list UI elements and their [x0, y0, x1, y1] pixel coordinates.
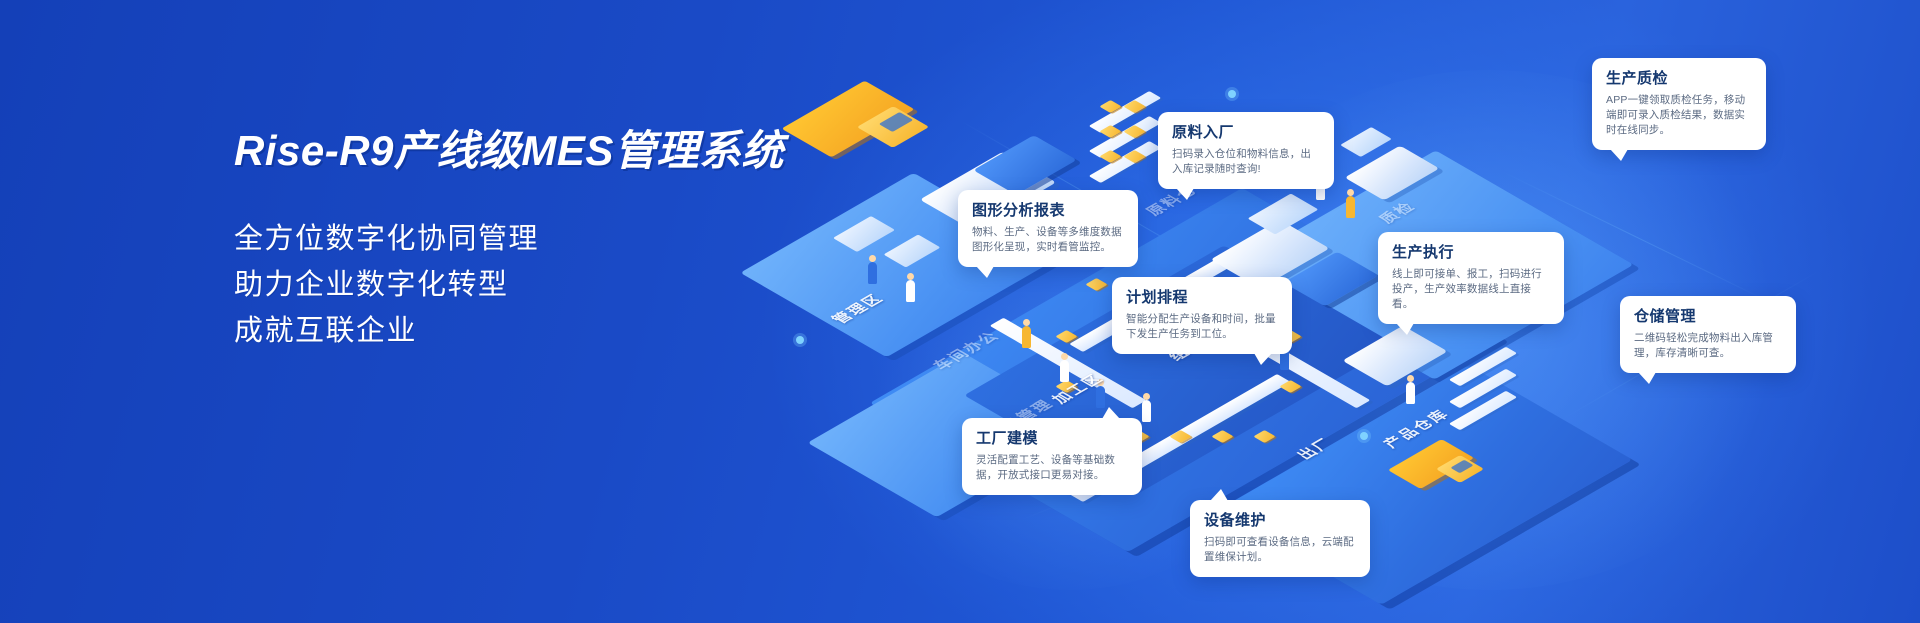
callout-card-raw-material-inbound[interactable]: 原料入厂 扫码录入仓位和物料信息，出入库记录随时查询!: [1158, 112, 1334, 189]
callout-title: 图形分析报表: [972, 201, 1124, 221]
callout-description: 智能分配生产设备和时间，批量下发生产任务到工位。: [1126, 312, 1278, 342]
callout-description: 线上即可接单、报工，扫码进行投产，生产效率数据线上直接看。: [1392, 267, 1550, 312]
callout-card-plan-scheduling[interactable]: 计划排程 智能分配生产设备和时间，批量下发生产任务到工位。: [1112, 277, 1292, 354]
worker: [868, 262, 877, 284]
hero-banner: Rise-R9产线级MES管理系统 全方位数字化协同管理 助力企业数字化转型 成…: [0, 0, 1920, 623]
callout-description: APP一键领取质检任务，移动端即可录入质检结果，数据实时在线同步。: [1606, 93, 1752, 138]
leader-dot: [1228, 90, 1236, 98]
callout-title: 工厂建模: [976, 429, 1128, 449]
callout-tail: [1396, 323, 1414, 335]
callout-title: 生产质检: [1606, 69, 1752, 89]
product-title: 产线级MES管理系统: [394, 127, 784, 174]
callout-title: 仓储管理: [1634, 307, 1782, 327]
callout-card-graphic-analysis-report[interactable]: 图形分析报表 物料、生产、设备等多维度数据图形化呈现，实时看管监控。: [958, 190, 1138, 267]
callout-title: 设备维护: [1204, 511, 1356, 531]
worker: [906, 280, 915, 302]
callout-card-factory-modeling[interactable]: 工厂建模 灵活配置工艺、设备等基础数据，开放式接口更易对接。: [962, 418, 1142, 495]
callout-description: 二维码轻松完成物料出入库管理，库存清晰可查。: [1634, 331, 1782, 361]
callout-description: 灵活配置工艺、设备等基础数据，开放式接口更易对接。: [976, 453, 1128, 483]
callout-tail: [1638, 372, 1656, 384]
callout-tail: [976, 266, 994, 278]
worker: [1022, 326, 1031, 348]
brand-name: Rise-R9: [234, 127, 394, 174]
leader-dot: [1360, 432, 1368, 440]
callout-tail: [1610, 149, 1628, 161]
worker: [1142, 400, 1151, 422]
callout-title: 生产执行: [1392, 243, 1550, 263]
callout-card-warehouse-management[interactable]: 仓储管理 二维码轻松完成物料出入库管理，库存清晰可查。: [1620, 296, 1796, 373]
callout-tail: [1176, 188, 1194, 200]
callout-tail: [1254, 353, 1272, 365]
worker: [1060, 360, 1069, 382]
callout-card-production-execution[interactable]: 生产执行 线上即可接单、报工，扫码进行投产，生产效率数据线上直接看。: [1378, 232, 1564, 324]
worker: [1406, 382, 1415, 404]
callout-title: 计划排程: [1126, 288, 1278, 308]
callout-tail: [1102, 407, 1120, 419]
callout-card-production-quality-inspection[interactable]: 生产质检 APP一键领取质检任务，移动端即可录入质检结果，数据实时在线同步。: [1592, 58, 1766, 150]
callout-title: 原料入厂: [1172, 123, 1320, 143]
callout-description: 扫码即可查看设备信息，云端配置维保计划。: [1204, 535, 1356, 565]
callout-tail: [1210, 489, 1228, 501]
worker: [1096, 386, 1105, 408]
callout-card-equipment-maintenance[interactable]: 设备维护 扫码即可查看设备信息，云端配置维保计划。: [1190, 500, 1370, 577]
callout-description: 扫码录入仓位和物料信息，出入库记录随时查询!: [1172, 147, 1320, 177]
qc-tablet: [1340, 127, 1392, 157]
worker: [1346, 196, 1355, 218]
callout-description: 物料、生产、设备等多维度数据图形化呈现，实时看管监控。: [972, 225, 1124, 255]
leader-dot: [796, 336, 804, 344]
